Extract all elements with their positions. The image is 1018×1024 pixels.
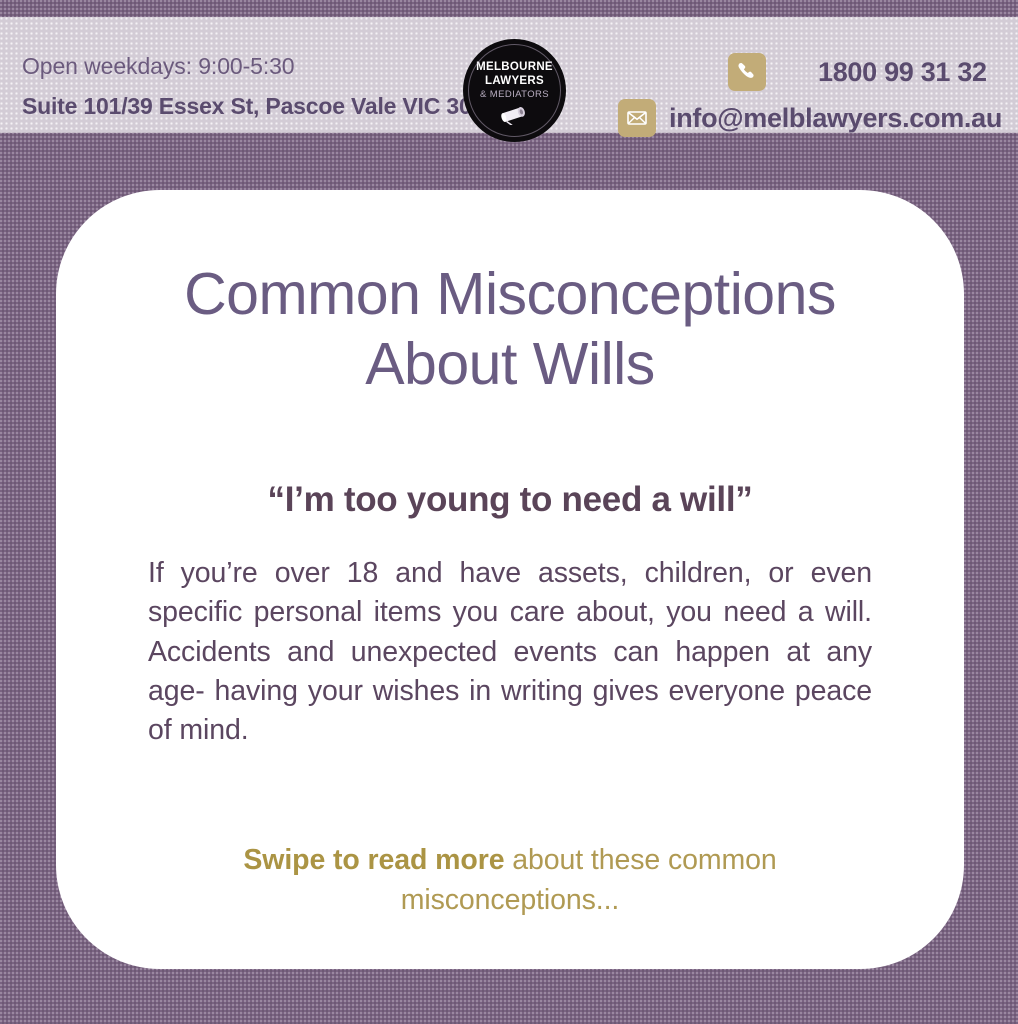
contact-header-band: Open weekdays: 9:00-5:30 Suite 101/39 Es… bbox=[0, 17, 1018, 133]
opening-hours-text: Open weekdays: 9:00-5:30 bbox=[22, 55, 497, 78]
phone-icon bbox=[728, 53, 766, 91]
header-inner: Open weekdays: 9:00-5:30 Suite 101/39 Es… bbox=[0, 17, 1018, 133]
misconception-quote: “I’m too young to need a will” bbox=[116, 480, 904, 520]
post-canvas: Open weekdays: 9:00-5:30 Suite 101/39 Es… bbox=[0, 0, 1018, 1024]
logo-line-mediators: & MEDIATORS bbox=[480, 89, 549, 100]
contact-details: 1800 99 31 32 info@melblawyers.com.au bbox=[610, 47, 1010, 147]
page-title: Common Misconceptions About Wills bbox=[116, 260, 904, 399]
logo-line-melbourne: MELBOURNE bbox=[476, 61, 553, 75]
logo-line-lawyers: LAWYERS bbox=[485, 75, 544, 89]
email-address-text: info@melblawyers.com.au bbox=[669, 103, 1002, 134]
business-details: Open weekdays: 9:00-5:30 Suite 101/39 Es… bbox=[22, 55, 497, 118]
swipe-cta: Swipe to read more about these common mi… bbox=[148, 840, 872, 921]
envelope-icon bbox=[618, 99, 656, 137]
card-inner: Common Misconceptions About Wills “I’m t… bbox=[56, 190, 964, 969]
company-logo[interactable]: MELBOURNE LAWYERS & MEDIATORS bbox=[463, 39, 566, 142]
phone-number-text: 1800 99 31 32 bbox=[818, 57, 987, 88]
swipe-cta-strong: Swipe to read more bbox=[243, 844, 504, 876]
phone-contact-row[interactable]: 1800 99 31 32 bbox=[728, 53, 987, 91]
email-contact-row[interactable]: info@melblawyers.com.au bbox=[618, 99, 1002, 137]
address-text: Suite 101/39 Essex St, Pascoe Vale VIC 3… bbox=[22, 95, 497, 118]
content-card: Common Misconceptions About Wills “I’m t… bbox=[56, 190, 964, 969]
scroll-icon bbox=[500, 105, 530, 130]
body-paragraph: If you’re over 18 and have assets, child… bbox=[148, 554, 872, 751]
